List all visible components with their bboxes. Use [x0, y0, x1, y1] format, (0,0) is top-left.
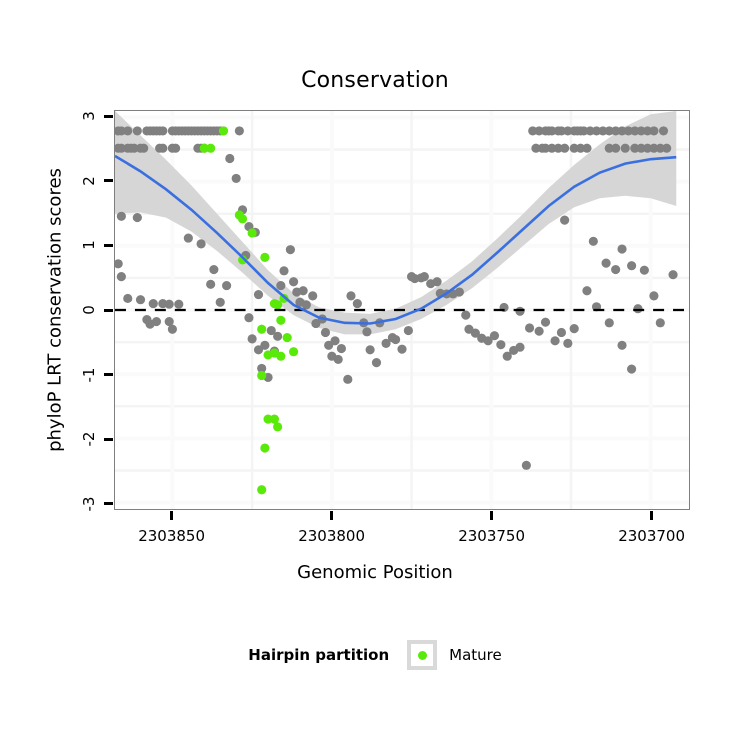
- y-tick-label: -1: [78, 366, 100, 384]
- x-tick-mark: [330, 511, 333, 520]
- plot-canvas: [115, 111, 689, 509]
- x-tick-mark: [650, 511, 653, 520]
- y-tick-mark: [104, 179, 113, 182]
- x-tick-mark: [170, 511, 173, 520]
- x-tick-label: 2303750: [458, 527, 525, 545]
- x-tick-label: 2303800: [298, 527, 365, 545]
- y-tick-label: 3: [78, 107, 100, 125]
- legend-marker-icon: [418, 651, 427, 660]
- chart-title: Conservation: [0, 68, 750, 93]
- chart-root: Conservation -3-2-10123 2303850230380023…: [0, 0, 750, 750]
- y-tick-label: 0: [78, 301, 100, 319]
- x-tick-label: 2303850: [138, 527, 205, 545]
- y-tick-mark: [104, 309, 113, 312]
- y-axis-title-container: phyloP LRT conservation scores: [42, 110, 68, 510]
- y-tick-mark: [104, 373, 113, 376]
- x-axis-title: Genomic Position: [0, 562, 750, 583]
- y-tick-mark: [104, 438, 113, 441]
- x-tick-label: 2303700: [618, 527, 685, 545]
- x-tick-mark: [490, 511, 493, 520]
- legend: Hairpin partition Mature: [0, 640, 750, 670]
- y-tick-mark: [104, 244, 113, 247]
- legend-title: Hairpin partition: [248, 646, 389, 664]
- y-tick-mark: [104, 115, 113, 118]
- y-tick-label: -2: [78, 430, 100, 448]
- y-tick-label: 2: [78, 172, 100, 190]
- y-axis-title: phyloP LRT conservation scores: [45, 168, 66, 452]
- y-tick-label: 1: [78, 236, 100, 254]
- legend-label-mature: Mature: [449, 646, 502, 664]
- plot-panel[interactable]: [114, 110, 690, 510]
- y-tick-label: -3: [78, 495, 100, 513]
- y-tick-mark: [104, 502, 113, 505]
- legend-key-mature[interactable]: [407, 640, 437, 670]
